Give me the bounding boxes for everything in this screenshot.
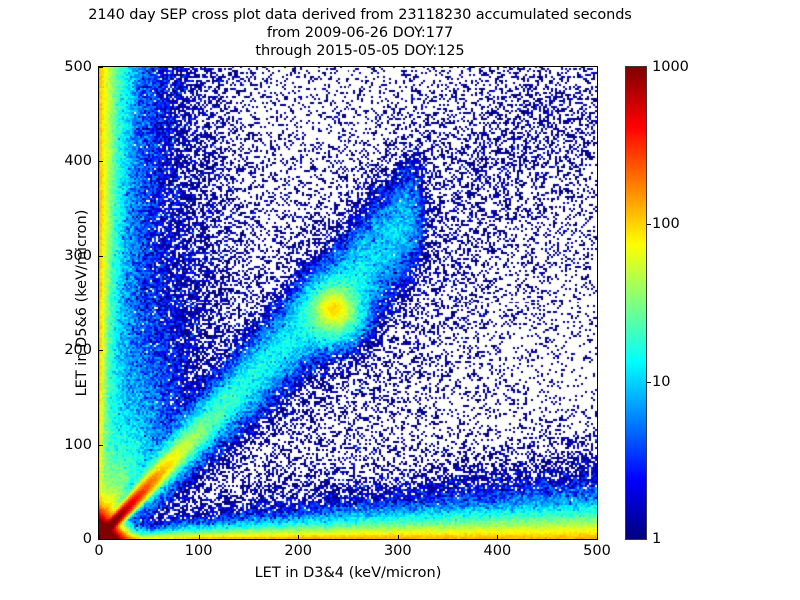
density-heatmap: [99, 67, 597, 539]
colorbar-tick-label: 1000: [652, 59, 689, 75]
x-tick-mark: [597, 535, 598, 539]
colorbar-tick-label: 1: [652, 531, 661, 547]
x-tick-label: 500: [583, 543, 611, 559]
title-line-1: 2140 day SEP cross plot data derived fro…: [0, 6, 720, 24]
y-tick-mark: [99, 445, 103, 446]
x-tick-mark: [298, 535, 299, 539]
x-tick-mark: [199, 535, 200, 539]
figure-canvas: 2140 day SEP cross plot data derived fro…: [0, 0, 800, 600]
y-tick-mark: [99, 350, 103, 351]
title-line-2: from 2009-06-26 DOY:177: [0, 24, 720, 42]
x-tick-mark: [497, 535, 498, 539]
colorbar-tick-mark: [647, 224, 651, 225]
y-tick-mark: [99, 539, 103, 540]
colorbar-gradient: [626, 67, 646, 539]
x-tick-label: 100: [185, 543, 213, 559]
title-line-3: through 2015-05-05 DOY:125: [0, 42, 720, 60]
y-tick-mark: [99, 161, 103, 162]
x-tick-label: 0: [94, 543, 103, 559]
y-tick-mark: [99, 256, 103, 257]
plot-title: 2140 day SEP cross plot data derived fro…: [0, 6, 720, 60]
x-tick-mark: [398, 535, 399, 539]
x-axis-label: LET in D3&4 (keV/micron): [98, 565, 598, 581]
plot-axes[interactable]: [98, 66, 598, 540]
y-axis-label: LET in D5&6 (keV/micron): [74, 66, 90, 540]
x-tick-label: 300: [384, 543, 412, 559]
x-tick-label: 400: [484, 543, 512, 559]
colorbar-tick-mark: [647, 382, 651, 383]
y-tick-mark: [99, 67, 103, 68]
colorbar-tick-label: 100: [652, 216, 680, 232]
colorbar[interactable]: [625, 66, 647, 540]
x-tick-label: 200: [284, 543, 312, 559]
colorbar-tick-label: 10: [652, 374, 670, 390]
